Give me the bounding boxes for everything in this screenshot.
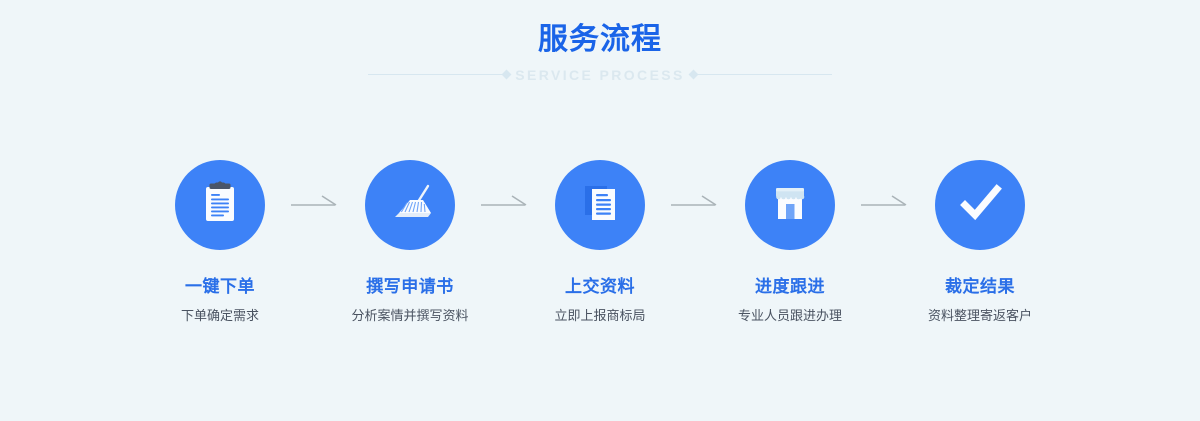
page-subtitle: SERVICE PROCESS — [515, 65, 685, 85]
step-icon-circle-4 — [745, 160, 835, 250]
arrow-right-icon — [479, 193, 531, 218]
step-desc-5: 资料整理寄返客户 — [928, 307, 1032, 325]
step-title-5: 裁定结果 — [945, 276, 1015, 298]
header-decoration-dot-left — [502, 70, 512, 80]
header-inner: 服务流程 SERVICE PROCESS — [0, 0, 1200, 110]
header-decoration-line-right — [694, 74, 832, 75]
step-item-3[interactable]: 上交资料 立即上报商标局 — [536, 160, 664, 325]
step-title-4: 进度跟进 — [755, 276, 825, 298]
step-title-2: 撰写申请书 — [366, 276, 454, 298]
step-connector-2 — [474, 160, 536, 250]
step-icon-circle-3 — [555, 160, 645, 250]
arrow-right-icon — [859, 193, 911, 218]
step-item-1[interactable]: 一键下单 下单确定需求 — [156, 160, 284, 325]
arrow-right-icon — [669, 193, 721, 218]
clipboard-icon — [195, 178, 245, 233]
step-item-5[interactable]: 裁定结果 资料整理寄返客户 — [916, 160, 1044, 325]
step-desc-3: 立即上报商标局 — [554, 307, 645, 325]
page-title: 服务流程 — [538, 22, 662, 58]
step-connector-1 — [284, 160, 346, 250]
page-header: 服务流程 SERVICE PROCESS — [0, 0, 1200, 110]
checkmark-icon — [952, 175, 1008, 236]
step-icon-circle-2 — [365, 160, 455, 250]
step-title-3: 上交资料 — [565, 276, 635, 298]
step-connector-3 — [664, 160, 726, 250]
step-title-1: 一键下单 — [185, 276, 255, 298]
shop-icon — [765, 178, 815, 233]
step-item-2[interactable]: 撰写申请书 分析案情并撰写资料 — [346, 160, 474, 325]
documents-icon — [575, 178, 625, 233]
header-subtitle-row: SERVICE PROCESS — [0, 62, 1200, 88]
step-item-4[interactable]: 进度跟进 专业人员跟进办理 — [726, 160, 854, 325]
arrow-right-icon — [289, 193, 341, 218]
step-desc-1: 下单确定需求 — [181, 307, 259, 325]
step-desc-4: 专业人员跟进办理 — [738, 307, 842, 325]
step-connector-4 — [854, 160, 916, 250]
broom-icon — [382, 175, 438, 236]
step-icon-circle-1 — [175, 160, 265, 250]
step-desc-2: 分析案情并撰写资料 — [351, 307, 468, 325]
header-decoration-line-left — [368, 74, 506, 75]
service-process-steps: 一键下单 下单确定需求 — [0, 160, 1200, 340]
step-icon-circle-5 — [935, 160, 1025, 250]
